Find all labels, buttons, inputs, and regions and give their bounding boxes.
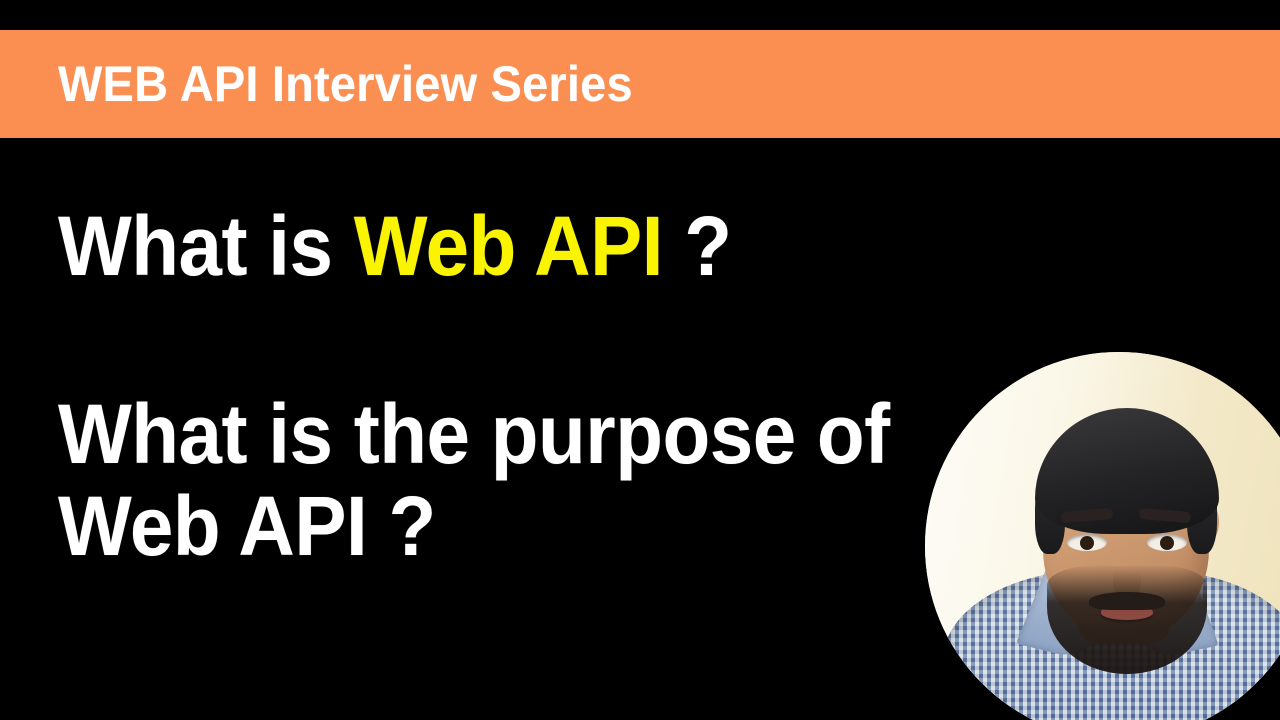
question-one-prefix: What is bbox=[58, 199, 354, 293]
question-one: What is Web API ? bbox=[58, 200, 876, 292]
avatar-photo bbox=[925, 352, 1280, 720]
moustache bbox=[1089, 592, 1165, 610]
question-block: What is Web API ? What is the purpose of… bbox=[58, 200, 938, 572]
video-slide: WEB API Interview Series What is Web API… bbox=[0, 0, 1280, 720]
eye-right bbox=[1147, 534, 1187, 551]
question-one-suffix: ? bbox=[663, 199, 732, 293]
pupil-left bbox=[1080, 536, 1094, 550]
eye-left bbox=[1067, 534, 1107, 551]
avatar: presenter-portrait bbox=[925, 352, 1280, 720]
question-two-line-one: What is the purpose of bbox=[58, 388, 876, 480]
question-two-line-two: Web API ? bbox=[58, 480, 876, 572]
series-title: WEB API Interview Series bbox=[58, 59, 633, 109]
header-banner: WEB API Interview Series bbox=[0, 30, 1280, 138]
pupil-right bbox=[1160, 536, 1174, 550]
question-one-highlight: Web API bbox=[354, 199, 663, 293]
